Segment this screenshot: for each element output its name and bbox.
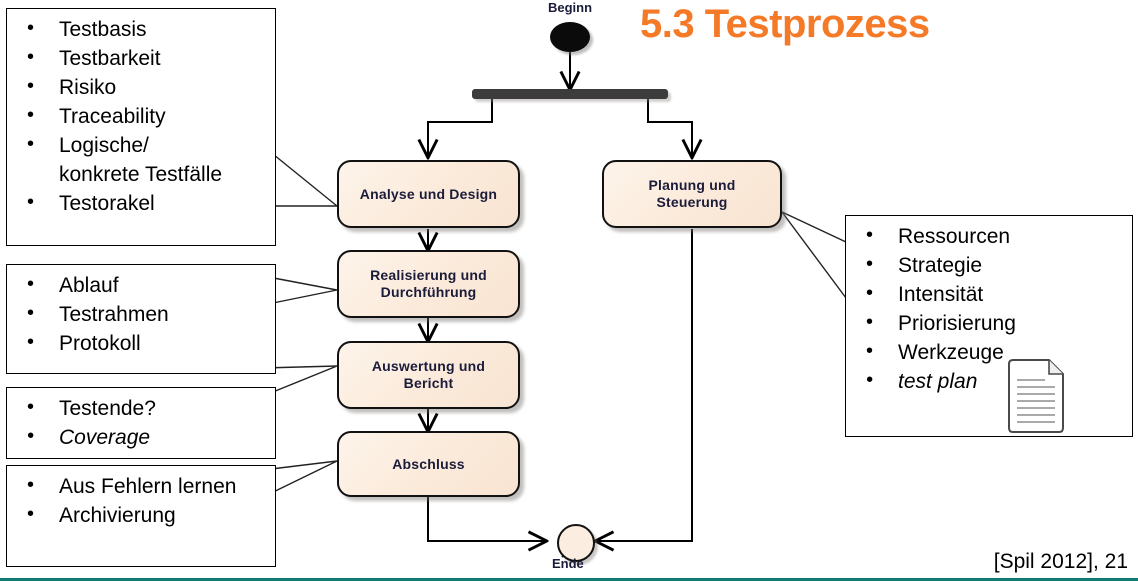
list-item: test plan	[854, 367, 1128, 396]
list-item: Coverage	[15, 423, 271, 452]
list-item: Strategie	[854, 251, 1128, 280]
activity-label-line1: Auswertung und	[372, 358, 485, 374]
activity-analyse-und-design[interactable]: Analyse und Design	[337, 160, 520, 228]
document-icon	[1005, 358, 1067, 441]
activity-label-line1: Realisierung und	[370, 267, 487, 283]
list-item: Ablauf	[15, 271, 271, 300]
start-node-label: Beginn	[548, 0, 592, 15]
activity-abschluss[interactable]: Abschluss	[337, 431, 520, 497]
activity-label-line2: Durchführung	[381, 284, 477, 300]
flow-abschluss-to-ende	[428, 497, 545, 541]
note-list: Testende? Coverage	[15, 394, 271, 452]
note-abschluss: Aus Fehlern lernen Archivierung	[6, 465, 276, 567]
note-auswertung: Testende? Coverage	[6, 387, 276, 459]
activity-label: Abschluss	[392, 456, 465, 473]
list-item: Priorisierung	[854, 309, 1128, 338]
activity-label-line2: Bericht	[404, 375, 454, 391]
list-item: Testbasis	[15, 15, 271, 44]
list-item: Testorakel	[15, 189, 271, 218]
activity-auswertung-und-bericht[interactable]: Auswertung und Bericht	[337, 341, 520, 409]
footer-reference: [Spil 2012], 21	[994, 550, 1128, 574]
note-list: Ablauf Testrahmen Protokoll	[15, 271, 271, 358]
flow-fork-to-planung	[648, 98, 692, 156]
activity-label-line2: Steuerung	[656, 194, 727, 210]
list-item: Archivierung	[15, 501, 271, 530]
list-item: Testbarkeit	[15, 44, 271, 73]
activity-label: Auswertung und Bericht	[372, 358, 485, 392]
note-realisierung: Ablauf Testrahmen Protokoll	[6, 264, 276, 374]
activity-planung-und-steuerung[interactable]: Planung und Steuerung	[602, 160, 782, 228]
activity-realisierung-und-durchfuehrung[interactable]: Realisierung und Durchführung	[337, 250, 520, 318]
list-item: Risiko	[15, 73, 271, 102]
flow-fork-to-analyse	[428, 98, 492, 156]
note-list: Ressourcen Strategie Intensität Priorisi…	[854, 222, 1128, 396]
list-item-continuation: konkrete Testfälle	[15, 160, 271, 189]
list-item: Traceability	[15, 102, 271, 131]
note-analyse-design: Testbasis Testbarkeit Risiko Traceabilit…	[6, 8, 276, 246]
list-item: Logische/	[15, 131, 271, 160]
list-item: Werkzeuge	[854, 338, 1128, 367]
footer-divider	[0, 578, 1138, 581]
activity-label-line1: Planung und	[649, 177, 736, 193]
list-item: Ressourcen	[854, 222, 1128, 251]
activity-label: Planung und Steuerung	[649, 177, 736, 211]
list-item: Aus Fehlern lernen	[15, 472, 271, 501]
anchor-note-planung	[782, 212, 846, 298]
note-list: Testbasis Testbarkeit Risiko Traceabilit…	[15, 15, 271, 218]
list-item: Protokoll	[15, 329, 271, 358]
note-planung: Ressourcen Strategie Intensität Priorisi…	[845, 215, 1133, 437]
activity-label: Analyse und Design	[360, 186, 497, 203]
fork-bar	[472, 89, 668, 99]
list-item: Testrahmen	[15, 300, 271, 329]
list-item: Intensität	[854, 280, 1128, 309]
slide-canvas: 5.3 Testprozess Beginn	[0, 0, 1138, 586]
activity-label: Realisierung und Durchführung	[370, 267, 487, 301]
list-item: Testende?	[15, 394, 271, 423]
page-title: 5.3 Testprozess	[640, 2, 930, 47]
note-list: Aus Fehlern lernen Archivierung	[15, 472, 271, 530]
end-node-label: Ende	[552, 556, 584, 571]
flow-planung-to-ende	[597, 229, 692, 541]
initial-node-icon	[550, 22, 590, 52]
